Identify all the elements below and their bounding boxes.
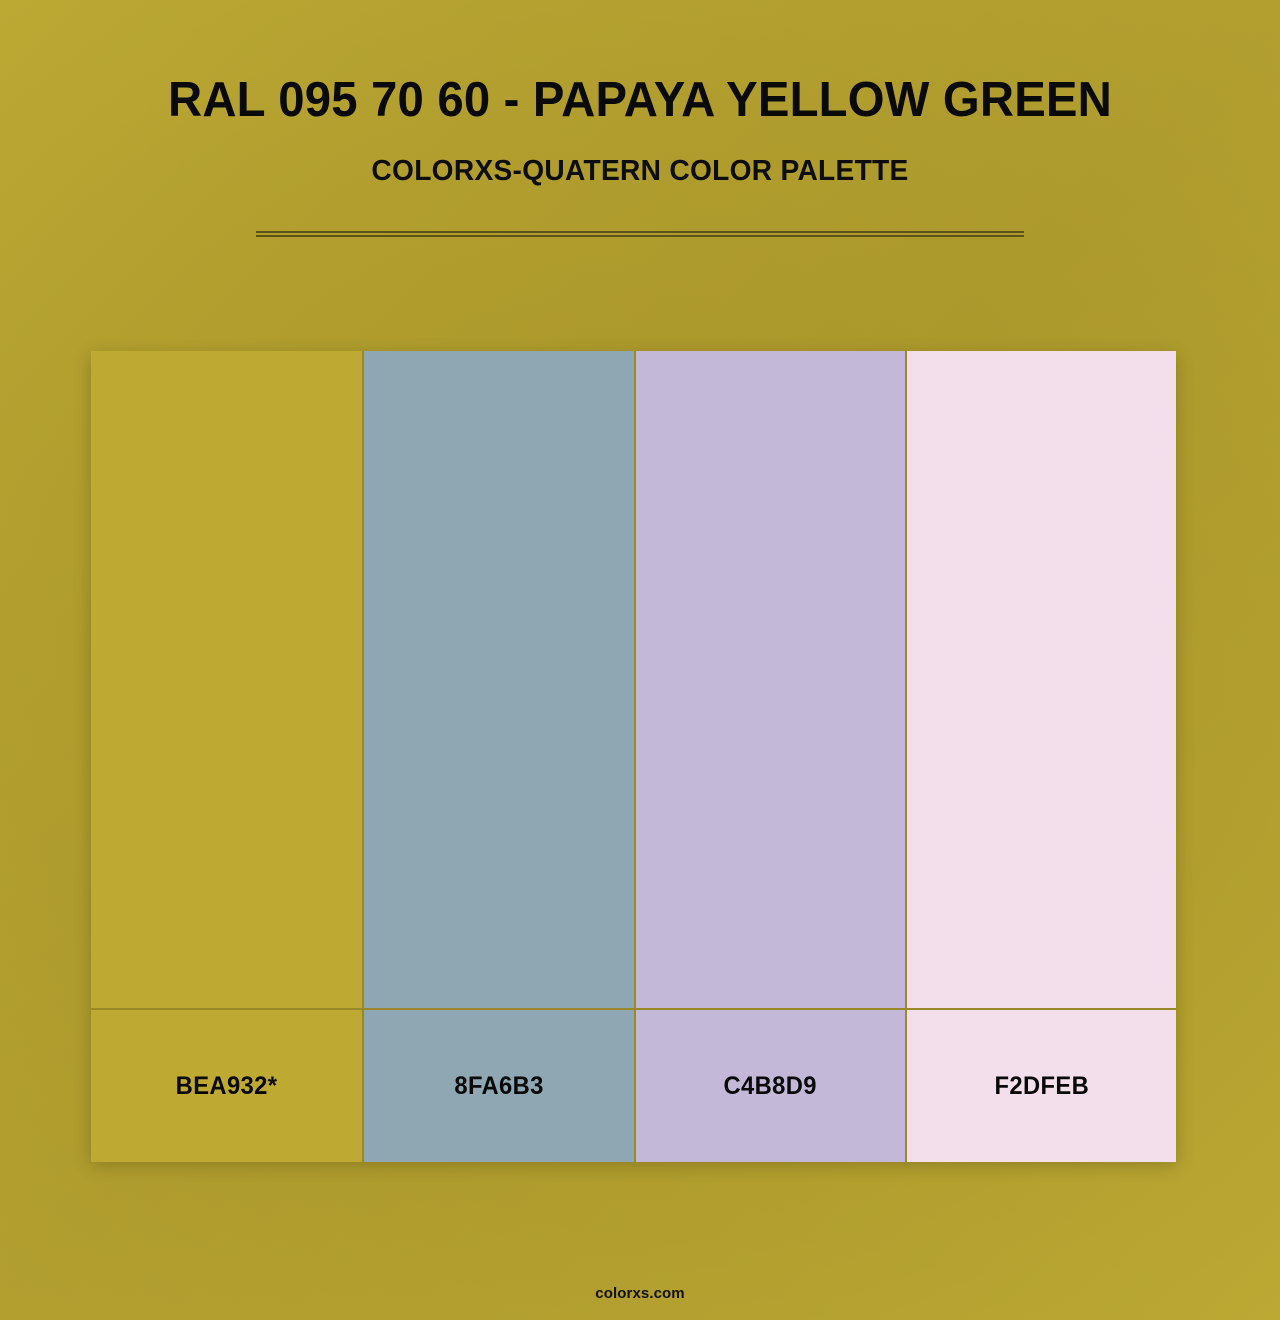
rule-line-bottom bbox=[256, 235, 1024, 237]
page-title: RAL 095 70 60 - PAPAYA YELLOW GREEN bbox=[22, 0, 1257, 128]
color-swatch[interactable] bbox=[91, 351, 362, 1008]
rule-line-top bbox=[256, 231, 1024, 233]
header: RAL 095 70 60 - PAPAYA YELLOW GREEN COLO… bbox=[0, 0, 1280, 188]
title-divider-rule bbox=[256, 231, 1024, 236]
swatch-hex-label: C4B8D9 bbox=[724, 1072, 817, 1101]
swatch-row bbox=[91, 351, 1176, 1008]
swatch-label-cell[interactable]: BEA932* bbox=[91, 1010, 362, 1162]
swatch-label-cell[interactable]: F2DFEB bbox=[905, 1010, 1176, 1162]
color-swatch[interactable] bbox=[905, 351, 1176, 1008]
swatch-label-cell[interactable]: 8FA6B3 bbox=[362, 1010, 634, 1162]
color-swatch[interactable] bbox=[634, 351, 905, 1008]
color-swatch[interactable] bbox=[362, 351, 634, 1008]
footer-site-name: colorxs.com bbox=[595, 1285, 684, 1302]
page-content: RAL 095 70 60 - PAPAYA YELLOW GREEN COLO… bbox=[0, 0, 1280, 1320]
swatch-hex-label: 8FA6B3 bbox=[454, 1072, 543, 1101]
palette-card: BEA932* 8FA6B3 C4B8D9 F2DFEB bbox=[91, 351, 1176, 1160]
swatch-label-row: BEA932* 8FA6B3 C4B8D9 F2DFEB bbox=[91, 1008, 1176, 1162]
swatch-hex-label: F2DFEB bbox=[994, 1072, 1089, 1101]
swatch-hex-label: BEA932* bbox=[176, 1072, 278, 1101]
swatch-label-cell[interactable]: C4B8D9 bbox=[634, 1010, 905, 1162]
footer: colorxs.com bbox=[0, 1285, 1280, 1303]
page-subtitle: COLORXS-QUATERN COLOR PALETTE bbox=[19, 128, 1261, 188]
